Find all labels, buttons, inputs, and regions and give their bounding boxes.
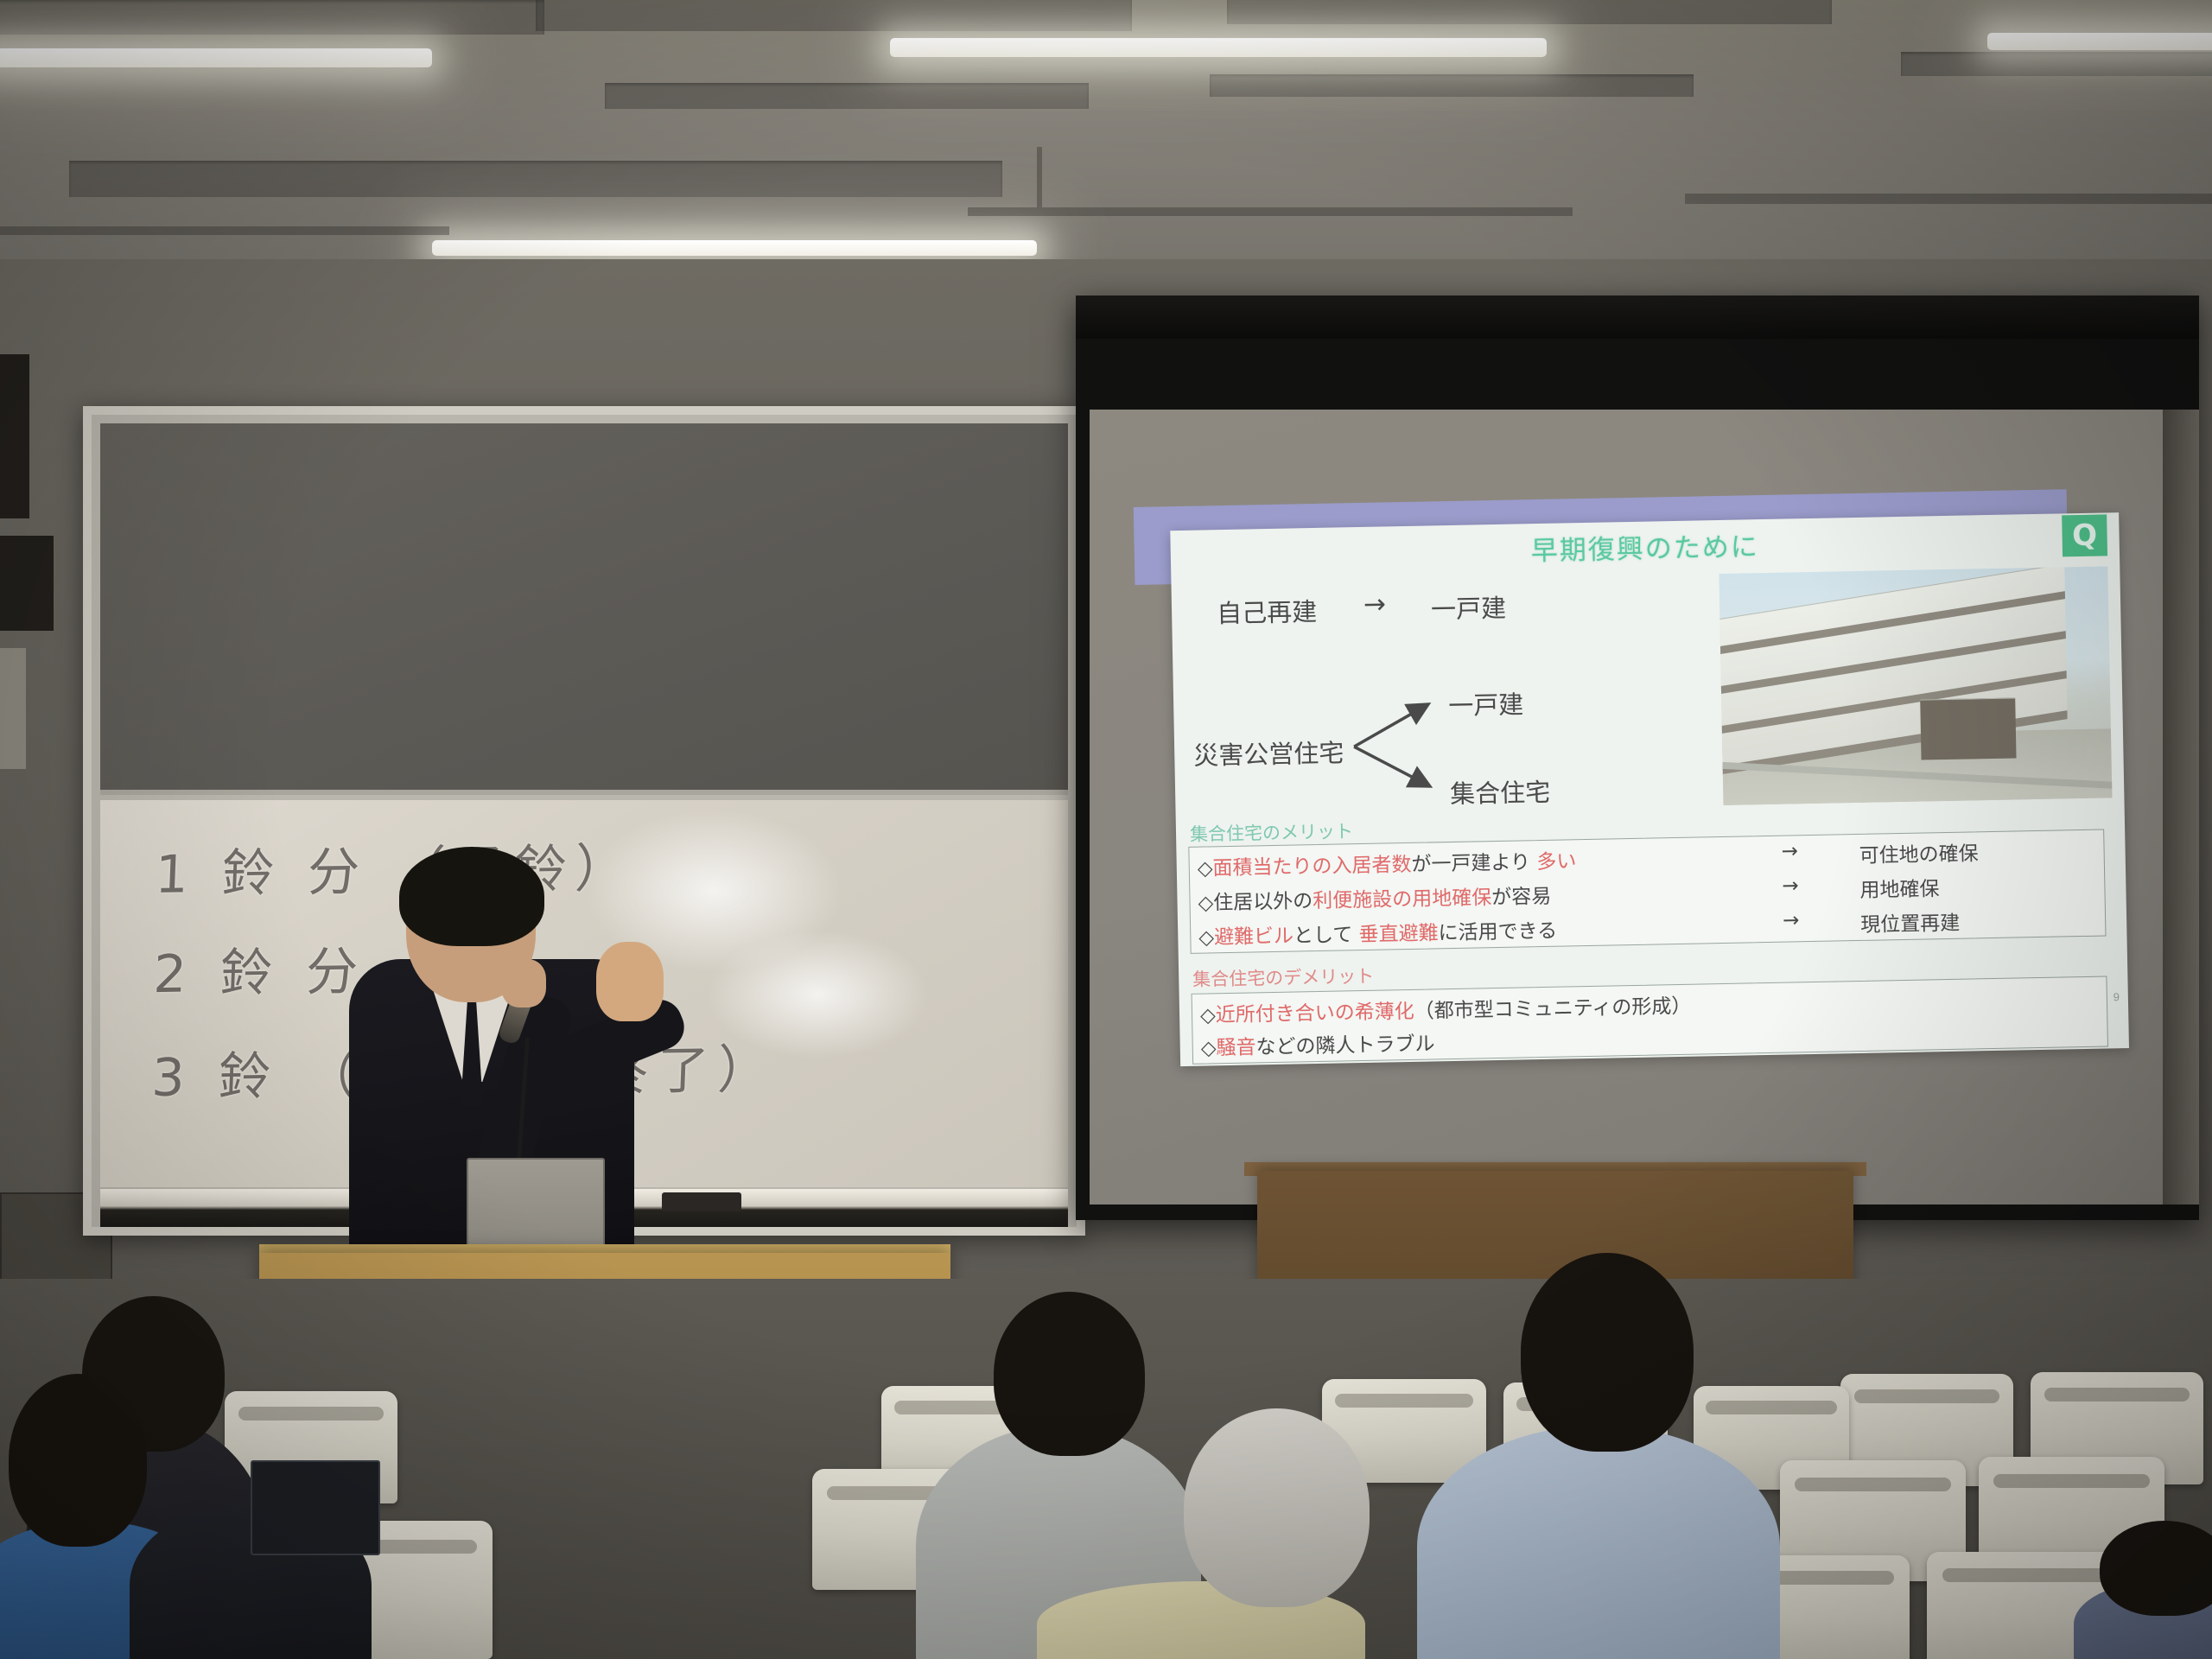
demerit-rest-2: などの隣人トラブル	[1255, 1033, 1434, 1058]
diagram-row1-target: 一戸建	[1431, 588, 1507, 626]
ceiling-panel	[0, 0, 544, 35]
presenter-open-hand	[596, 942, 664, 1021]
screen-roller-housing	[1076, 296, 2199, 339]
audience-head	[1521, 1253, 1694, 1452]
merit-arrow-2: →	[1782, 874, 1799, 897]
ceiling-edge	[1685, 194, 2212, 204]
presenter-hair	[399, 847, 544, 946]
laptop	[467, 1158, 605, 1253]
merit-arrow-1: →	[1781, 840, 1798, 862]
logo-icon: Q	[2062, 514, 2107, 556]
demerit-item-2: ◇騒音などの隣人トラブル	[1200, 1027, 1434, 1060]
demerit-rest-1: （都市型コミュニティの形成）	[1414, 995, 1691, 1023]
slide-page-number: 9	[2113, 990, 2120, 1003]
demerit-heading: 集合住宅のデメリット	[1192, 963, 1375, 992]
audience-body	[1417, 1426, 1780, 1659]
demerit-hl-2: 騒音	[1216, 1036, 1255, 1059]
whiteboard-line-1: 1 鈴 分 （予鈴）	[154, 826, 637, 908]
ceiling-light	[432, 240, 1037, 256]
audience-head	[994, 1292, 1145, 1456]
diagram-row2-branch-lower: 集合住宅	[1450, 772, 1551, 810]
ceiling-edge	[0, 226, 449, 235]
branch-arrows-icon	[1346, 696, 1452, 793]
ceiling-panel	[1227, 0, 1832, 24]
merit-result-1: 可住地の確保	[1859, 836, 1979, 868]
diagram-row2-branch-upper: 一戸建	[1448, 684, 1524, 722]
merit-hl-3a: 避難ビル	[1214, 925, 1294, 950]
diagram-row2-source: 災害公営住宅	[1193, 733, 1344, 772]
photo-building-entrance	[1920, 697, 2016, 760]
merit-mid-1: が一戸建より	[1411, 851, 1536, 876]
lecture-hall-photo: 1 鈴 分 （予鈴） 2 鈴 分 （ ） 3 鈴 （ 疑応答 終了） 早期復興の…	[0, 0, 2212, 1659]
ceiling	[0, 0, 2212, 285]
ceiling-edge	[968, 207, 1573, 216]
merit-hl-1a: 面積当たりの入居者数	[1212, 854, 1411, 880]
demerit-hl-1: 近所付き合いの希薄化	[1216, 1001, 1414, 1027]
ceiling-panel	[1210, 74, 1694, 97]
ceiling-panel	[69, 161, 1002, 197]
merit-bullet-3: ◇	[1198, 926, 1214, 949]
presenter-hand-with-mic	[501, 959, 546, 1007]
wall-monitor	[0, 536, 54, 631]
merit-arrow-3: →	[1783, 909, 1800, 931]
merit-mid-3: として	[1294, 924, 1359, 947]
audience-head-white-hair	[1184, 1408, 1370, 1607]
ceiling-light	[890, 38, 1547, 57]
audience-laptop	[251, 1460, 380, 1555]
merit-hl-3b: 垂直避難	[1358, 922, 1438, 946]
ceiling-panel	[536, 0, 1132, 31]
screen-right-edge	[2163, 410, 2199, 1205]
merit-bullet-1: ◇	[1198, 857, 1213, 880]
slide-photo-apartment-building	[1719, 566, 2112, 805]
merit-heading: 集合住宅のメリット	[1190, 817, 1354, 847]
wall-speaker	[0, 354, 29, 518]
whiteboard-eraser	[662, 1192, 741, 1211]
merit-result-2: 用地確保	[1859, 872, 1940, 903]
projector-mount	[1037, 147, 1042, 207]
ceiling-panel	[605, 83, 1089, 109]
ceiling-light	[1987, 33, 2212, 50]
merit-pre-2: 住居以外の	[1213, 890, 1313, 914]
merit-mid-2: が容易	[1491, 886, 1551, 909]
ceiling-panel	[1901, 52, 2212, 76]
diagram-row1-source: 自己再建	[1217, 592, 1318, 630]
audience-head	[2100, 1521, 2212, 1616]
demerit-bullet-1: ◇	[1200, 1004, 1216, 1027]
demerit-bullet-2: ◇	[1201, 1037, 1217, 1059]
diagram-row1-arrow: →	[1363, 588, 1387, 620]
merit-hl-1b: 多い	[1536, 850, 1576, 874]
merit-result-3: 現位置再建	[1860, 906, 1961, 938]
wall-control-panel	[0, 648, 26, 769]
projected-slide: 早期復興のために Q 自己再建 → 一戸建 災害公営住宅	[1134, 488, 2129, 1077]
merit-bullet-2: ◇	[1198, 892, 1213, 914]
audience-head	[9, 1374, 147, 1547]
slide-content: 早期復興のために Q 自己再建 → 一戸建 災害公営住宅	[1170, 512, 2129, 1066]
ceiling-light	[0, 48, 432, 67]
whiteboard-upper-panel	[100, 423, 1068, 795]
merit-hl-2a: 利便施設の用地確保	[1313, 887, 1491, 912]
merit-post-3: に活用できる	[1438, 920, 1557, 945]
